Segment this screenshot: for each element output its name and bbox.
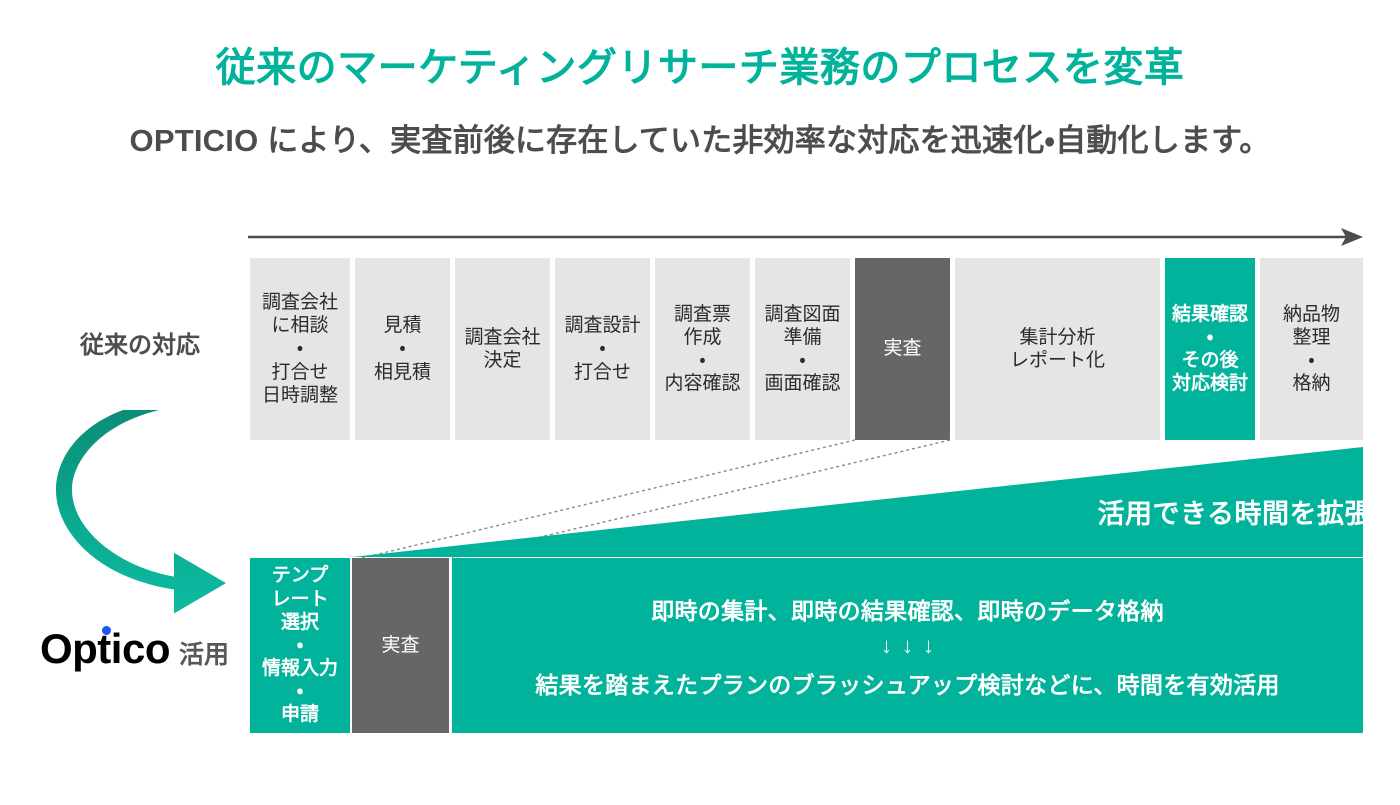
down-arrows-icon: ↓↓↓ [881, 635, 944, 657]
optico-step-2: 実査 [352, 558, 449, 733]
benefit-line-1: 即時の集計、即時の結果確認、即時のデータ格納 [651, 592, 1164, 626]
optico-step-label: 実査 [381, 634, 419, 657]
time-expansion-label: 活用できる時間を拡張 [1098, 492, 1372, 531]
benefit-line-2: 結果を踏まえたプランのブラッシュアップ検討などに、時間を有効活用 [535, 666, 1279, 700]
optico-benefit-panel: 即時の集計、即時の結果確認、即時のデータ格納 ↓↓↓ 結果を踏まえたプランのブラ… [452, 558, 1363, 733]
legacy-step-5: 調査票 作成 ・ 内容確認 [655, 258, 750, 440]
legacy-step-2: 見積 ・ 相見積 [355, 258, 450, 440]
legacy-step-label: 調査票 作成 ・ 内容確認 [664, 303, 740, 396]
optico-step-label: テンプ レート 選択 ・ 情報入力 ・ 申請 [262, 564, 338, 726]
legacy-step-4: 調査設計 ・ 打合せ [555, 258, 650, 440]
legacy-step-1: 調査会社 に相談 ・ 打合せ 日時調整 [250, 258, 350, 440]
legacy-step-label: 調査設計 ・ 打合せ [564, 314, 640, 384]
legacy-step-3: 調査会社 決定 [455, 258, 550, 440]
legacy-step-8: 集計分析 レポート化 [955, 258, 1160, 440]
legacy-step-label: 調査会社 決定 [464, 326, 540, 372]
legacy-step-6: 調査図面 準備 ・ 画面確認 [755, 258, 850, 440]
legacy-step-label: 納品物 整理 ・ 格納 [1283, 303, 1340, 396]
legacy-step-label: 集計分析 レポート化 [1010, 326, 1105, 372]
legacy-step-label: 実査 [883, 337, 921, 360]
legacy-step-9: 結果確認 ・ その後 対応検討 [1165, 258, 1255, 440]
legacy-step-label: 調査図面 準備 ・ 画面確認 [764, 303, 840, 396]
legacy-step-label: 結果確認 ・ その後 対応検討 [1172, 303, 1248, 396]
legacy-step-10: 納品物 整理 ・ 格納 [1260, 258, 1363, 440]
legacy-step-7: 実査 [855, 258, 950, 440]
legacy-step-label: 調査会社 に相談 ・ 打合せ 日時調整 [262, 291, 338, 407]
legacy-step-label: 見積 ・ 相見積 [374, 314, 431, 384]
optico-step-1: テンプ レート 選択 ・ 情報入力 ・ 申請 [250, 558, 350, 733]
